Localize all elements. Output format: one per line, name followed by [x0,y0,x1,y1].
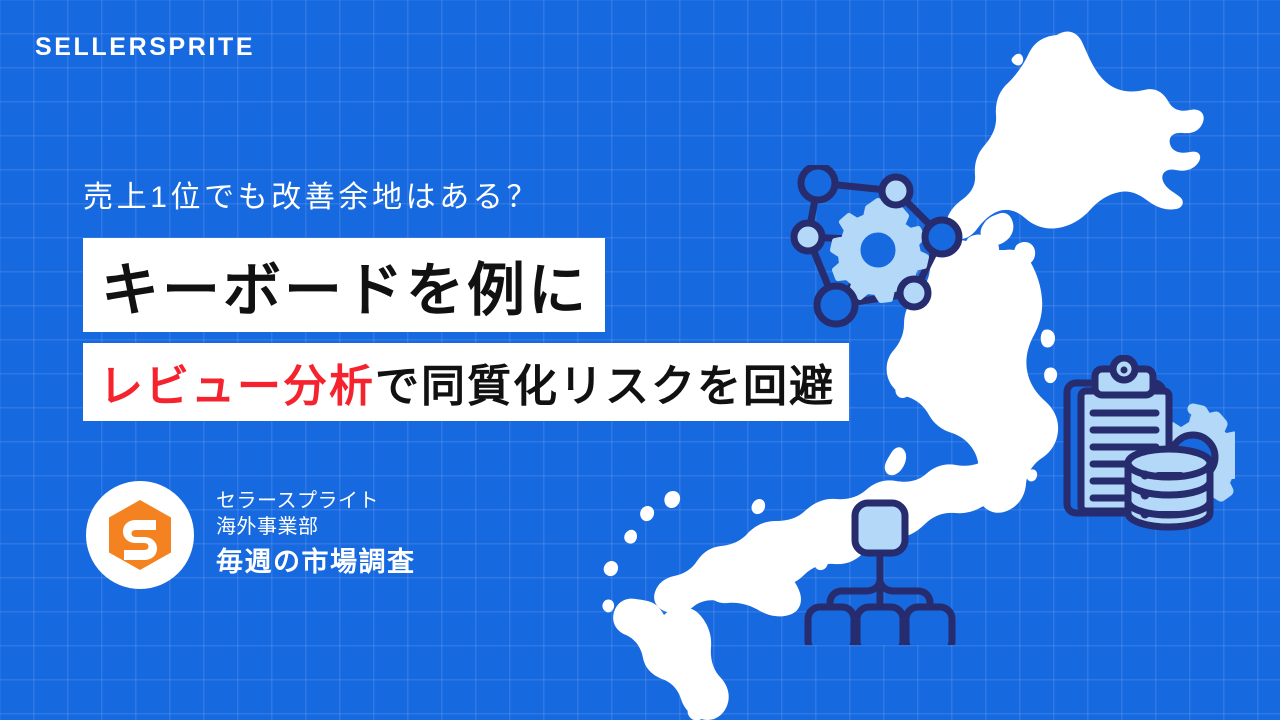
slide-canvas: SELLERSPRITE [0,0,1280,720]
headline-kicker: 売上1位でも改善余地はある？ [83,172,540,216]
headline-band-primary-text: キーボードを例に [101,243,589,327]
clipboard-database-gear-icon [1055,355,1235,535]
headline-band-secondary: レビュー分析 で同質化リスクを回避 [83,343,849,421]
brand-wordmark: SELLERSPRITE [35,33,255,62]
org-chart-icon [800,495,960,645]
hexagon-s-logo-icon [103,498,177,572]
footer-text-block: セラースプライト 海外事業部 毎週の市場調査 [216,488,416,583]
footer-identity: セラースプライト 海外事業部 毎週の市場調査 [86,481,416,589]
footer-line-2: 海外事業部 [216,514,416,540]
footer-line-3: 毎週の市場調査 [216,543,416,582]
headline-band-primary: キーボードを例に [83,238,605,332]
footer-line-1: セラースプライト [216,488,416,514]
network-gear-icon [786,165,974,333]
headline-highlight-text: レビュー分析 [99,350,375,414]
headline-band-secondary-text: で同質化リスクを回避 [375,350,835,414]
sellersprite-logo-badge [86,481,194,589]
